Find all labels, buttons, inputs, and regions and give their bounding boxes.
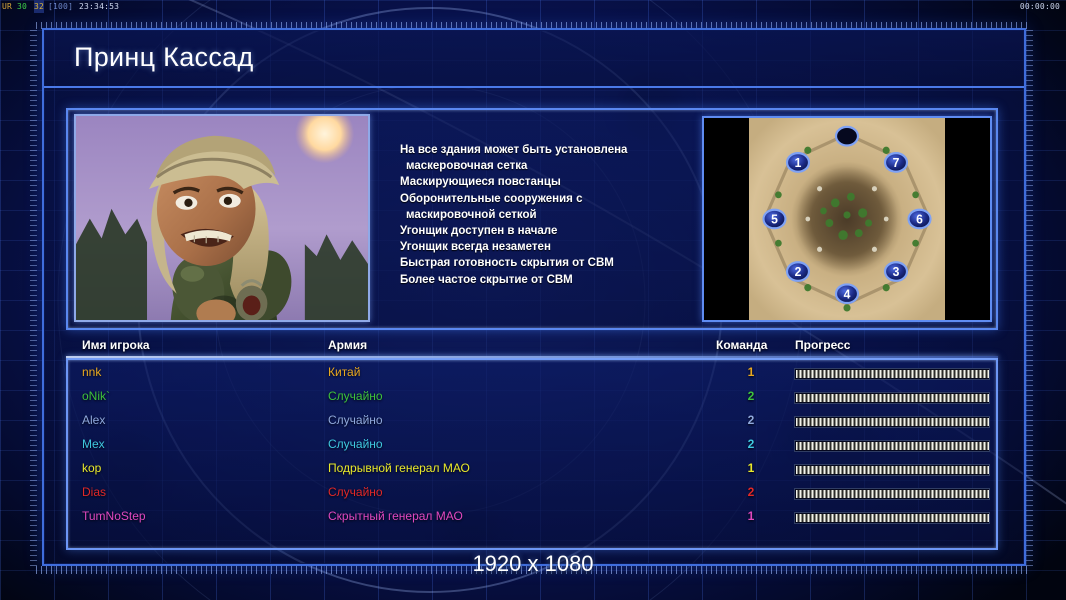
status-clock-left: 23:34:53 [79, 0, 119, 13]
map-preview: 1756234 [702, 116, 992, 322]
table-row[interactable]: oNik`Случайно2 [68, 386, 996, 410]
player-progress-bar [794, 512, 990, 524]
page-title: Принц Кассад [74, 42, 254, 73]
resolution-label: 1920 x 1080 [0, 551, 1066, 577]
map-spawn-label: 6 [916, 212, 923, 226]
player-team: 2 [740, 413, 762, 427]
table-header-divider [66, 356, 998, 358]
player-team: 1 [740, 461, 762, 475]
general-description: На все здания может быть установленамаск… [400, 142, 696, 288]
status-value-a: 30 [17, 0, 27, 13]
status-value-b: 32 [34, 0, 44, 13]
table-row[interactable]: MexСлучайно2 [68, 434, 996, 458]
status-clock-right: 00:00:00 [1020, 0, 1060, 13]
column-header-progress: Прогресс [795, 338, 850, 352]
player-army: Китай [328, 365, 360, 379]
map-spawn-marker: 3 [885, 262, 907, 281]
description-line: Угонщик доступен в начале [400, 223, 696, 239]
player-progress-bar [794, 368, 990, 380]
player-army: Случайно [328, 485, 383, 499]
player-army: Случайно [328, 437, 383, 451]
player-army: Случайно [328, 389, 383, 403]
player-name: Alex [82, 413, 105, 427]
player-progress-bar [794, 392, 990, 404]
description-line: Маскирующиеся повстанцы [400, 174, 696, 190]
map-spawn-label: 3 [893, 265, 900, 279]
map-spawn-label: 1 [795, 156, 802, 170]
table-header-row: Имя игрока Армия Команда Прогресс [66, 338, 998, 357]
player-name: Mex [82, 437, 105, 451]
player-progress-bar [794, 464, 990, 476]
description-line: На все здания может быть установлена [400, 142, 696, 158]
player-name: Dias [82, 485, 106, 499]
player-name: oNik` [82, 389, 110, 403]
player-team: 1 [740, 365, 762, 379]
player-team: 2 [740, 437, 762, 451]
ruler-left [30, 30, 37, 566]
player-name: kop [82, 461, 101, 475]
column-header-army: Армия [328, 338, 367, 352]
player-name: nnk [82, 365, 101, 379]
map-spawn-marker: 5 [764, 210, 786, 229]
title-band: Принц Кассад [44, 30, 1024, 88]
table-row[interactable]: AlexСлучайно2 [68, 410, 996, 434]
player-progress-bar [794, 488, 990, 500]
map-spawn-label: 2 [795, 265, 802, 279]
column-header-team: Команда [716, 338, 767, 352]
player-name: TumNoStep [82, 509, 146, 523]
general-portrait [74, 114, 370, 322]
column-header-player-name: Имя игрока [82, 338, 150, 352]
map-spawn-marker: 4 [836, 284, 858, 303]
map-preview-image: 1756234 [749, 118, 945, 320]
player-progress-bar [794, 440, 990, 452]
status-bracket: [100] [48, 0, 73, 13]
description-line: Более частое скрытие от СВМ [400, 272, 696, 288]
description-line: Быстрая готовность скрытия от СВМ [400, 255, 696, 271]
player-team: 2 [740, 389, 762, 403]
status-ur-label: UR [2, 0, 12, 13]
map-spawn-label: 4 [844, 287, 851, 301]
player-table-rows: nnkКитай1oNik`Случайно2AlexСлучайно2MexС… [68, 362, 996, 530]
player-progress-bar [794, 416, 990, 428]
map-spawn-marker: 1 [787, 153, 809, 172]
player-army: Случайно [328, 413, 383, 427]
table-row[interactable]: nnkКитай1 [68, 362, 996, 386]
player-army: Подрывной генерал МАО [328, 461, 470, 475]
player-team: 2 [740, 485, 762, 499]
description-line: маскировочной сеткой [400, 207, 696, 223]
table-row[interactable]: TumNoStepСкрытный генерал МАО1 [68, 506, 996, 530]
description-line: Оборонительные сооружения с [400, 191, 696, 207]
ruler-right [1026, 30, 1033, 566]
table-row[interactable]: kopПодрывной генерал МАО1 [68, 458, 996, 482]
portrait-image [76, 116, 368, 321]
top-status-bar: UR 30 32 [100] 23:34:53 00:00:00 [0, 0, 1066, 13]
map-spawn-marker: 7 [885, 153, 907, 172]
table-row[interactable]: DiasСлучайно2 [68, 482, 996, 506]
player-team: 1 [740, 509, 762, 523]
description-line: маскеровочная сетка [400, 158, 696, 174]
map-spawn-label: 5 [771, 212, 778, 226]
map-spawn-label: 7 [893, 156, 900, 170]
map-spawn-marker: 6 [909, 210, 931, 229]
map-spawn-marker: 2 [787, 262, 809, 281]
map-spawn-marker [836, 127, 858, 146]
description-line: Угонщик всегда незаметен [400, 239, 696, 255]
player-army: Скрытный генерал МАО [328, 509, 463, 523]
